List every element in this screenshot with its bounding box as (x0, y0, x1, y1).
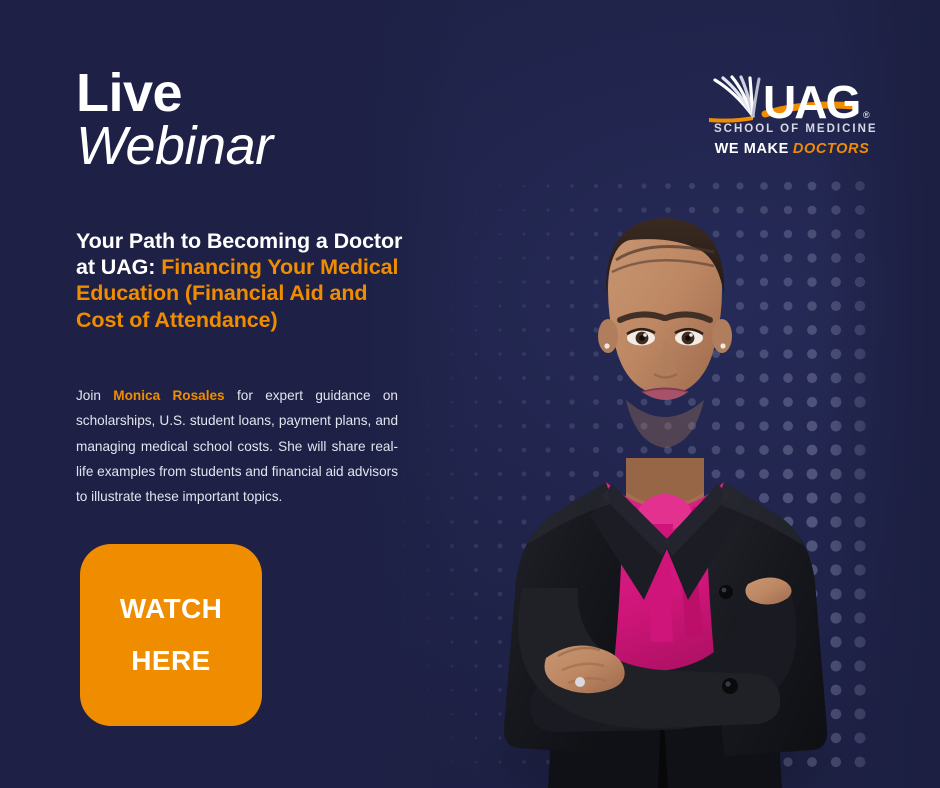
svg-text:®: ® (863, 110, 870, 120)
webinar-description: Join Monica Rosales for expert guidance … (76, 383, 398, 509)
title-webinar: Webinar (76, 121, 436, 172)
open-book-fan-icon (709, 77, 759, 123)
speaker-name: Monica Rosales (113, 388, 224, 403)
logo-tagline: WE MAKEDOCTORS (711, 142, 873, 157)
watch-here-button[interactable]: WATCH HERE (80, 544, 262, 726)
webinar-promo-banner: UAG ® SCHOOL OF MEDICINE WE MAKEDOCTORS … (0, 0, 940, 788)
description-rest: for expert guidance on scholarships, U.S… (76, 388, 398, 504)
logo-subtitle: SCHOOL OF MEDICINE (714, 124, 873, 136)
description-lead: Join (76, 388, 113, 403)
cta-line-2: HERE (80, 635, 262, 687)
webinar-headline: Your Path to Becoming a Doctor at UAG: F… (76, 228, 406, 333)
logo-tagline-orange: DOCTORS (793, 141, 869, 157)
event-type-title: Live Webinar (76, 68, 436, 172)
svg-text:UAG: UAG (763, 76, 859, 128)
title-live: Live (76, 68, 436, 119)
uag-logo[interactable]: UAG ® SCHOOL OF MEDICINE WE MAKEDOCTORS (703, 72, 873, 164)
speaker-portrait (430, 186, 900, 788)
logo-tagline-white: WE MAKE (715, 141, 789, 157)
uag-wordmark: UAG ® (703, 72, 873, 130)
cta-line-1: WATCH (80, 583, 262, 635)
